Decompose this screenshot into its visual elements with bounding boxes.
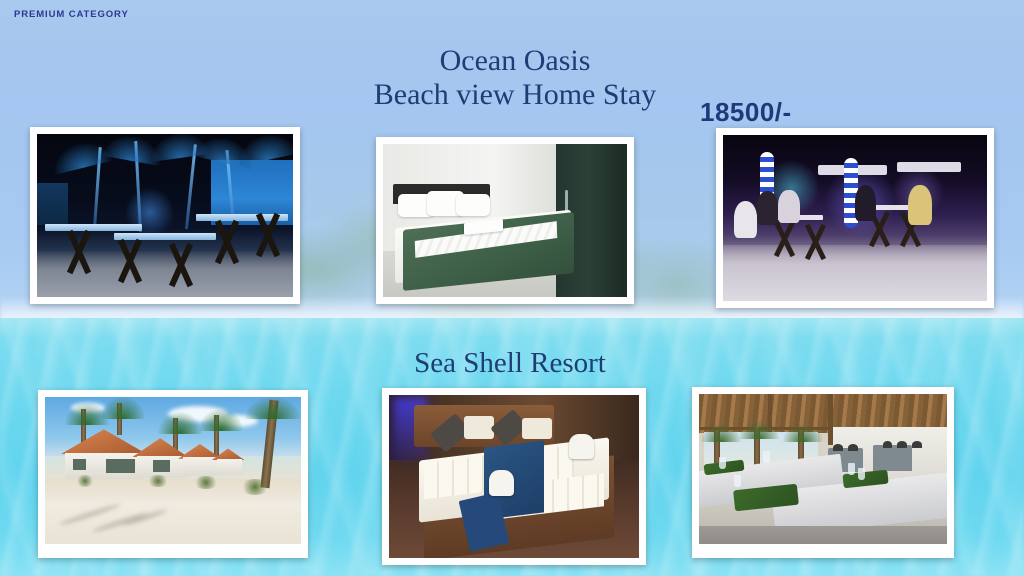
section-title-ocean-oasis: Ocean Oasis Beach view Home Stay xyxy=(300,44,730,112)
photo-night-beach-dining-image xyxy=(37,134,293,297)
photo-bed-blue-runner[interactable] xyxy=(382,388,646,565)
photo-beach-cottages-image xyxy=(45,397,301,544)
photo-beach-cottages[interactable] xyxy=(38,390,308,558)
photo-beach-guests-night[interactable] xyxy=(716,128,994,308)
section-title-sea-shell-resort: Sea Shell Resort xyxy=(330,347,690,380)
photo-bed-blue-runner-image xyxy=(389,395,639,558)
photo-night-beach-dining[interactable] xyxy=(30,127,300,304)
premium-category-badge: PREMIUM CATEGORY xyxy=(14,9,129,20)
photo-bedroom-green[interactable] xyxy=(376,137,634,304)
photo-thatched-dining-hall-image xyxy=(699,394,947,544)
photo-beach-guests-night-image xyxy=(723,135,987,301)
price-label-ocean-oasis: 18500/- xyxy=(700,97,792,128)
photo-thatched-dining-hall[interactable] xyxy=(692,387,954,558)
photo-bedroom-green-image xyxy=(383,144,627,297)
presentation-slide: PREMIUM CATEGORY Ocean Oasis Beach view … xyxy=(0,0,1024,576)
